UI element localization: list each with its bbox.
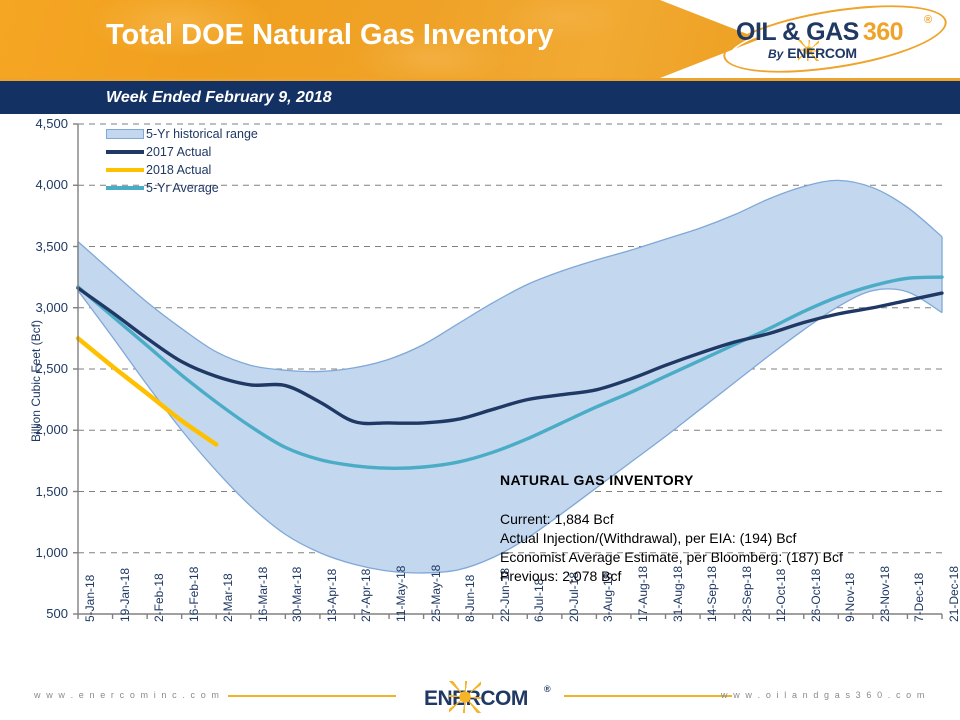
annotation-title: NATURAL GAS INVENTORY: [500, 472, 843, 488]
footer: w w w . e n e r c o m i n c . c o m ENER…: [0, 674, 960, 720]
logo-enercom-text: ENERCOM: [787, 45, 856, 61]
legend-item[interactable]: 5-Yr Average: [106, 179, 258, 197]
logo-wordmark: OIL & GAS360: [736, 18, 903, 47]
header: Total DOE Natural Gas Inventory OIL & GA…: [0, 0, 960, 78]
annotation-lines: Current: 1,884 BcfActual Injection/(With…: [500, 510, 843, 586]
x-axis-tick-label: 23-Nov-18: [878, 566, 892, 622]
x-axis-tick-label: 19-Jan-18: [118, 568, 132, 622]
logo-by-text: By: [768, 47, 783, 61]
annotation-line: Economist Average Estimate, per Bloomber…: [500, 548, 843, 567]
legend-label: 2017 Actual: [146, 145, 211, 159]
y-axis-tick-label: 1,500: [8, 484, 68, 499]
x-axis-tick-label: 2-Mar-18: [221, 573, 235, 622]
x-axis-tick-label: 30-Mar-18: [290, 567, 304, 622]
footer-sunburst-icon: [452, 684, 478, 710]
legend-line-swatch: [106, 186, 144, 190]
y-axis-tick-label: 3,500: [8, 239, 68, 254]
legend-line-swatch: [106, 150, 144, 154]
footer-rule-left: [228, 695, 396, 697]
y-axis-tick-label: 3,000: [8, 300, 68, 315]
x-axis-tick-label: 5-Jan-18: [83, 575, 97, 622]
legend-label: 5-Yr historical range: [146, 127, 258, 141]
y-axis-tick-label: 500: [8, 606, 68, 621]
x-axis-tick-label: 25-May-18: [429, 565, 443, 622]
subtitle-text: Week Ended February 9, 2018: [106, 89, 332, 107]
x-axis-tick-label: 16-Feb-18: [187, 567, 201, 622]
footer-oilandgas360-url[interactable]: w w w . o i l a n d g a s 3 6 0 . c o m: [721, 690, 926, 700]
subtitle-bar: Week Ended February 9, 2018: [0, 78, 960, 114]
x-axis-tick-label: 11-May-18: [394, 566, 408, 622]
legend-line-swatch: [106, 168, 144, 172]
y-axis-tick-label: 2,500: [8, 361, 68, 376]
logo-byline: By ENERCOM: [768, 45, 857, 61]
x-axis-tick-label: 16-Mar-18: [256, 567, 270, 622]
logo-360-text: 360: [859, 18, 903, 46]
legend-label: 2018 Actual: [146, 163, 211, 177]
footer-enercominc-url[interactable]: w w w . e n e r c o m i n c . c o m: [34, 690, 221, 700]
legend-item[interactable]: 5-Yr historical range: [106, 125, 258, 143]
y-axis-tick-label: 2,000: [8, 422, 68, 437]
chart-legend: 5-Yr historical range2017 Actual2018 Act…: [106, 125, 258, 197]
logo-registered-mark: ®: [924, 14, 932, 26]
x-axis-tick-label: 21-Dec-18: [947, 566, 960, 622]
annotation-line: Actual Injection/(Withdrawal), per EIA: …: [500, 529, 843, 548]
y-axis-tick-label: 4,000: [8, 177, 68, 192]
x-axis-tick-label: 27-Apr-18: [359, 569, 373, 622]
annotation-line: Current: 1,884 Bcf: [500, 510, 843, 529]
x-axis-tick-label: 2-Feb-18: [152, 573, 166, 622]
oil-and-gas-360-logo: OIL & GAS360 ® By ENERCOM: [722, 6, 948, 72]
x-axis-tick-label: 7-Dec-18: [912, 573, 926, 622]
page-title: Total DOE Natural Gas Inventory: [106, 19, 553, 52]
legend-item[interactable]: 2018 Actual: [106, 161, 258, 179]
legend-item[interactable]: 2017 Actual: [106, 143, 258, 161]
annotation-line: Previous: 2,078 Bcf: [500, 567, 843, 586]
enercom-footer-logo: ENERCOM ®: [402, 682, 562, 712]
x-axis-tick-label: 9-Nov-18: [843, 573, 857, 622]
footer-rule-right: [564, 695, 732, 697]
x-axis-tick-label: 8-Jun-18: [463, 575, 477, 622]
y-axis-tick-label: 4,500: [8, 116, 68, 131]
slide-root: Total DOE Natural Gas Inventory OIL & GA…: [0, 0, 960, 720]
y-axis-tick-label: 1,000: [8, 545, 68, 560]
x-axis-tick-label: 13-Apr-18: [325, 569, 339, 622]
footer-registered-mark: ®: [544, 684, 551, 694]
legend-band-swatch: [106, 129, 144, 139]
inventory-annotation: NATURAL GAS INVENTORY Current: 1,884 Bcf…: [500, 472, 843, 586]
chart-area: Billion Cubic Feet (Bcf) 5001,0001,5002,…: [0, 114, 960, 674]
legend-label: 5-Yr Average: [146, 181, 219, 195]
